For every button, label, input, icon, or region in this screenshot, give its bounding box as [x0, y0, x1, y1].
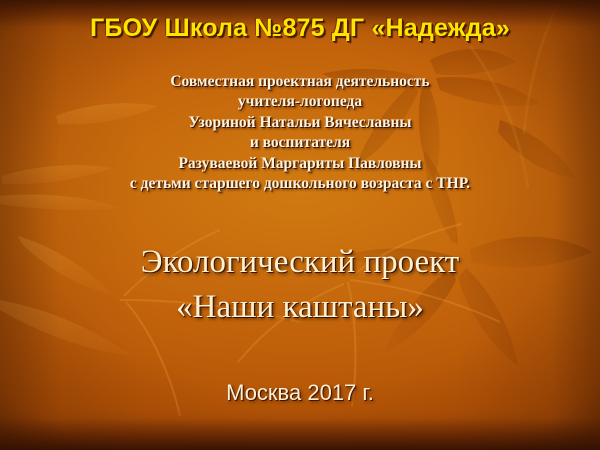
- slide-heading-school-name: ГБОУ Школа №875 ДГ «Надежда»: [0, 14, 600, 43]
- slide-project-title: Экологический проект «Наши каштаны»: [0, 240, 600, 330]
- slide-footer-place-year: Москва 2017 г.: [0, 380, 600, 406]
- project-title-line-2: «Наши каштаны»: [0, 285, 600, 330]
- slide-subtitle-block: Совместная проектная деятельность учител…: [0, 72, 600, 194]
- project-title-line-1: Экологический проект: [0, 240, 600, 285]
- subtitle-line-2: учителя-логопеда: [0, 92, 600, 112]
- subtitle-line-6: с детьми старшего дошкольного возраста с…: [0, 174, 600, 194]
- subtitle-line-4: и воспитателя: [0, 133, 600, 153]
- presentation-slide: ГБОУ Школа №875 ДГ «Надежда» Совместная …: [0, 0, 600, 450]
- subtitle-line-3: Узориной Натальи Вячеславны: [0, 113, 600, 133]
- subtitle-line-5: Разуваевой Маргариты Павловны: [0, 154, 600, 174]
- slide-content: ГБОУ Школа №875 ДГ «Надежда» Совместная …: [0, 0, 600, 450]
- subtitle-line-1: Совместная проектная деятельность: [0, 72, 600, 92]
